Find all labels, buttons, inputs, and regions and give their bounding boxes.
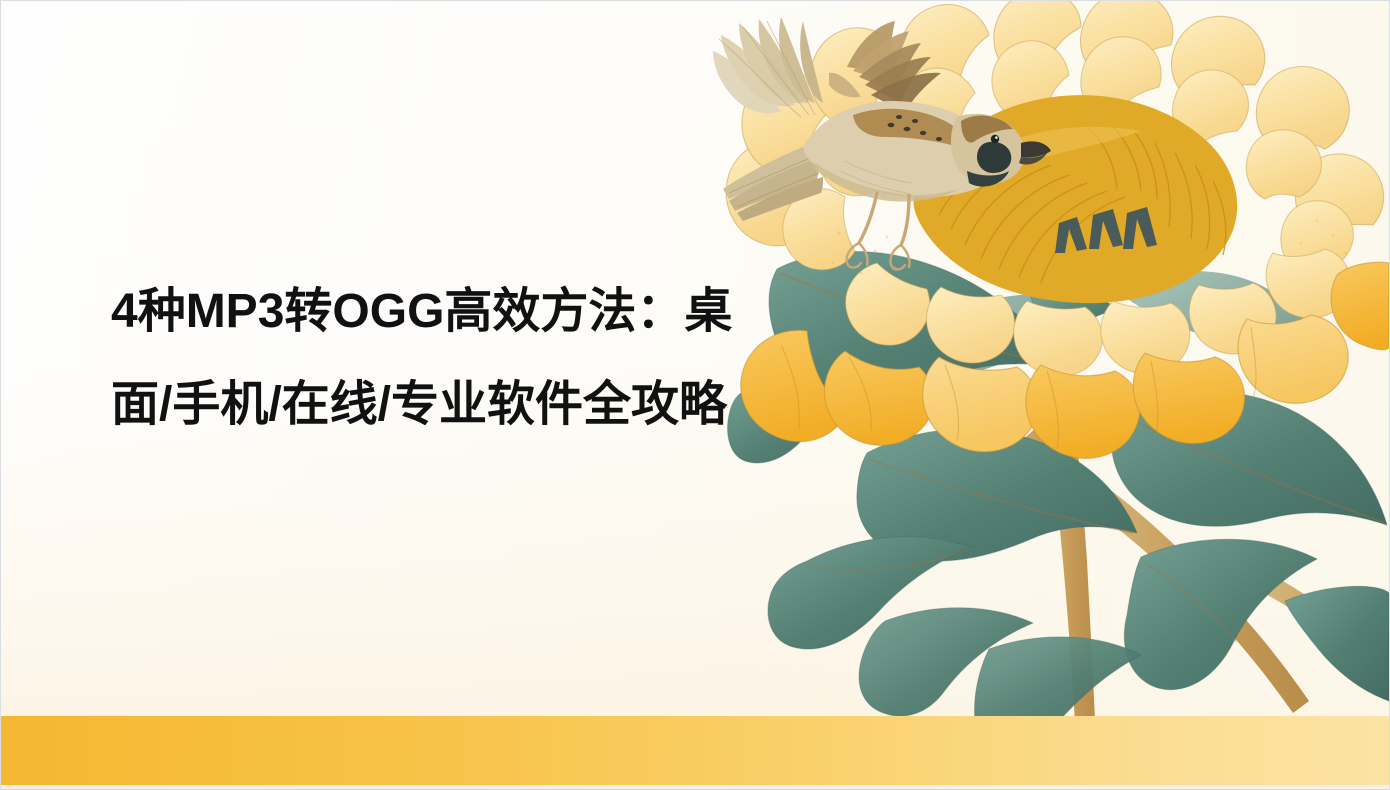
bottom-accent-band xyxy=(1,716,1389,788)
peony-flower xyxy=(726,1,1389,458)
page-title: 4种MP3转OGG高效方法：桌面/手机/在线/专业软件全攻略 xyxy=(111,265,791,451)
peony-sparrow-illustration xyxy=(689,1,1389,721)
band-foot-strip xyxy=(1,785,1389,788)
title-block: 4种MP3转OGG高效方法：桌面/手机/在线/专业软件全攻略 xyxy=(111,265,791,451)
slide-canvas: 4种MP3转OGG高效方法：桌面/手机/在线/专业软件全攻略 xyxy=(0,0,1390,790)
sparrow-lower-wing xyxy=(713,17,823,117)
